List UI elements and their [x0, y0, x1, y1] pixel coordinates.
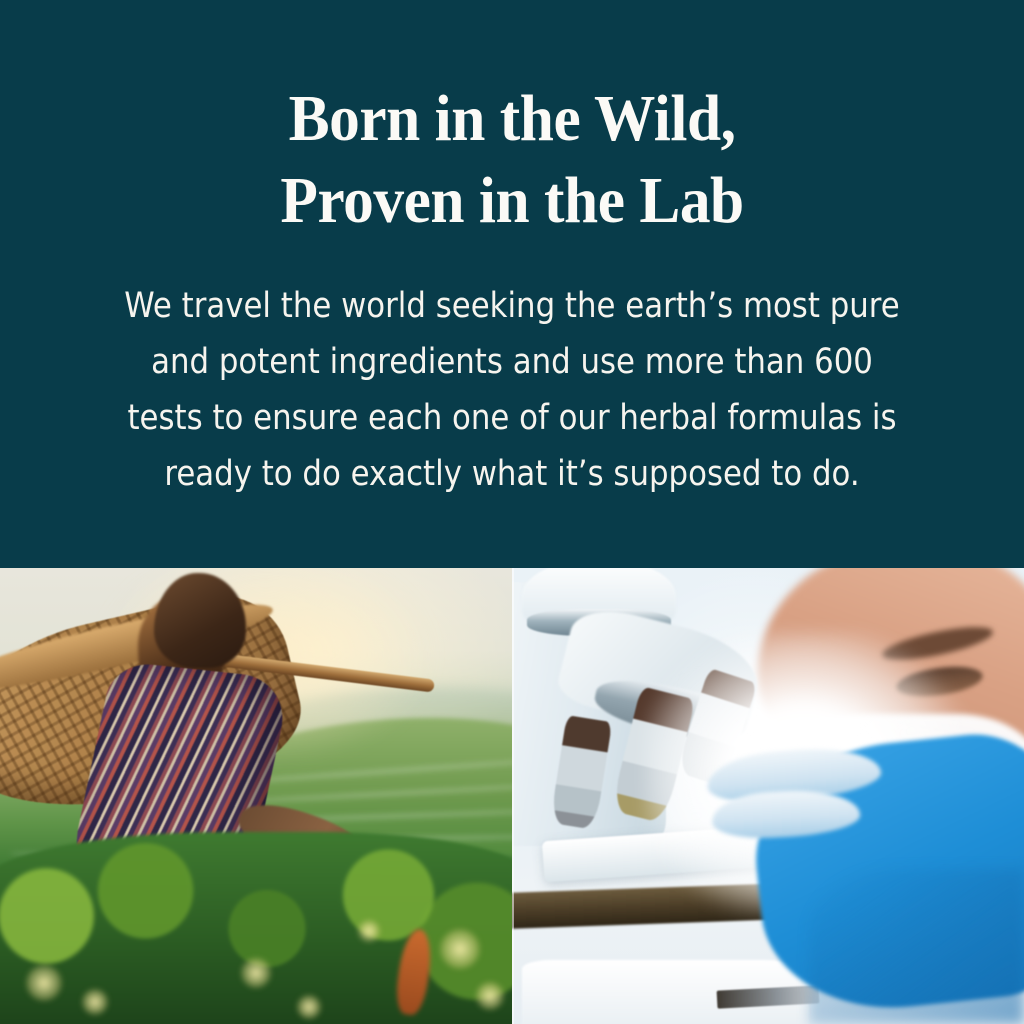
tea-harvester-photo — [0, 568, 512, 1024]
glove-shadow — [809, 869, 1024, 1024]
bokeh-highlight — [82, 989, 108, 1015]
page-title: Born in the Wild, Proven in the Lab — [280, 78, 743, 242]
text-panel: Born in the Wild, Proven in the Lab We t… — [0, 0, 1024, 568]
brand-poster: Born in the Wild, Proven in the Lab We t… — [0, 0, 1024, 1024]
photo-strip — [0, 568, 1024, 1024]
body-copy: We travel the world seeking the earth’s … — [112, 278, 911, 502]
laboratory-microscope-photo — [512, 568, 1024, 1024]
bokeh-highlight — [241, 958, 271, 988]
photo-divider — [512, 568, 514, 1024]
bokeh-highlight — [26, 965, 62, 1001]
tea-bushes — [0, 832, 512, 1024]
